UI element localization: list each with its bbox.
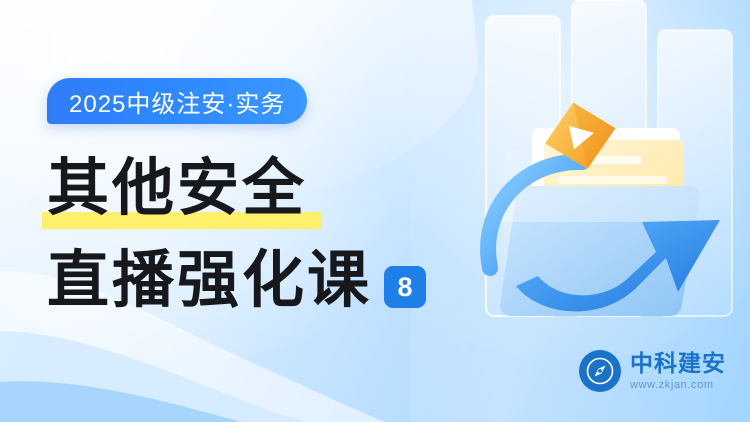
brand-name: 中科建安 bbox=[630, 352, 726, 375]
brand-text: 中科建安 www.zkjan.com bbox=[630, 352, 726, 391]
course-banner: 2025中级注安·实务 其他安全 直播强化课 8 中科建安 www.zkjan.… bbox=[0, 0, 750, 422]
brand-logo: 中科建安 www.zkjan.com bbox=[579, 350, 726, 392]
course-tag-label: 2025中级注安·实务 bbox=[69, 84, 285, 119]
title-line-1-text: 其他安全 bbox=[47, 158, 307, 220]
title-line-2: 直播强化课 8 bbox=[47, 250, 426, 312]
course-tag-pill: 2025中级注安·实务 bbox=[47, 78, 307, 124]
title-line-1: 其他安全 bbox=[47, 158, 307, 220]
title-line-2-text: 直播强化课 bbox=[47, 250, 372, 312]
episode-badge: 8 bbox=[384, 266, 426, 308]
brand-url: www.zkjan.com bbox=[630, 380, 726, 391]
compass-logo-icon bbox=[579, 350, 621, 392]
